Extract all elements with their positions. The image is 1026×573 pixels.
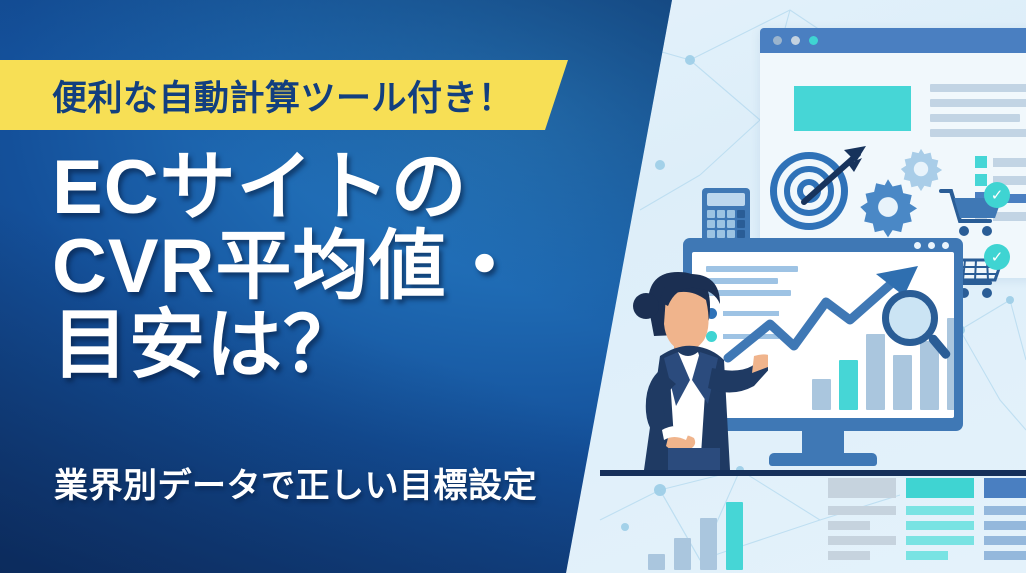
monitor-base bbox=[769, 453, 877, 466]
window-dot-1-icon bbox=[773, 36, 782, 45]
headline-line-2: CVR平均値・ bbox=[52, 227, 612, 306]
ribbon-label: 便利な自動計算ツール付き！ bbox=[52, 70, 514, 121]
magnifier-icon bbox=[882, 290, 938, 346]
hero-placeholder-block bbox=[794, 86, 911, 131]
window-dot-3-icon bbox=[809, 36, 818, 45]
thumbnail-canvas: ✓ ✓ bbox=[0, 0, 1026, 573]
target-icon bbox=[770, 152, 848, 230]
browser-title-bar bbox=[760, 28, 1026, 53]
monitor-window-dots bbox=[914, 242, 949, 249]
check-badge-icon: ✓ bbox=[984, 182, 1010, 208]
check-badge-icon: ✓ bbox=[984, 244, 1010, 270]
content-placeholder-columns bbox=[828, 478, 1026, 566]
subtitle-label: 業界別データで正しい目標設定 bbox=[54, 458, 537, 507]
window-dot-2-icon bbox=[791, 36, 800, 45]
headline-line-1: ECサイトの bbox=[52, 148, 612, 227]
text-placeholder-lines bbox=[930, 84, 1026, 144]
text-content-layer: 便利な自動計算ツール付き！ ECサイトの CVR平均値・ 目安は？ 業界別データ… bbox=[0, 0, 700, 573]
column-blue bbox=[984, 478, 1026, 566]
yellow-ribbon-banner: 便利な自動計算ツール付き！ bbox=[0, 60, 570, 130]
column-gray bbox=[828, 478, 896, 566]
shopping-cart-icon: ✓ bbox=[938, 186, 1008, 242]
headline-line-3: 目安は？ bbox=[52, 306, 612, 385]
calculator-display bbox=[707, 193, 745, 206]
page-title: ECサイトの CVR平均値・ 目安は？ bbox=[52, 148, 612, 385]
column-teal bbox=[906, 478, 974, 566]
